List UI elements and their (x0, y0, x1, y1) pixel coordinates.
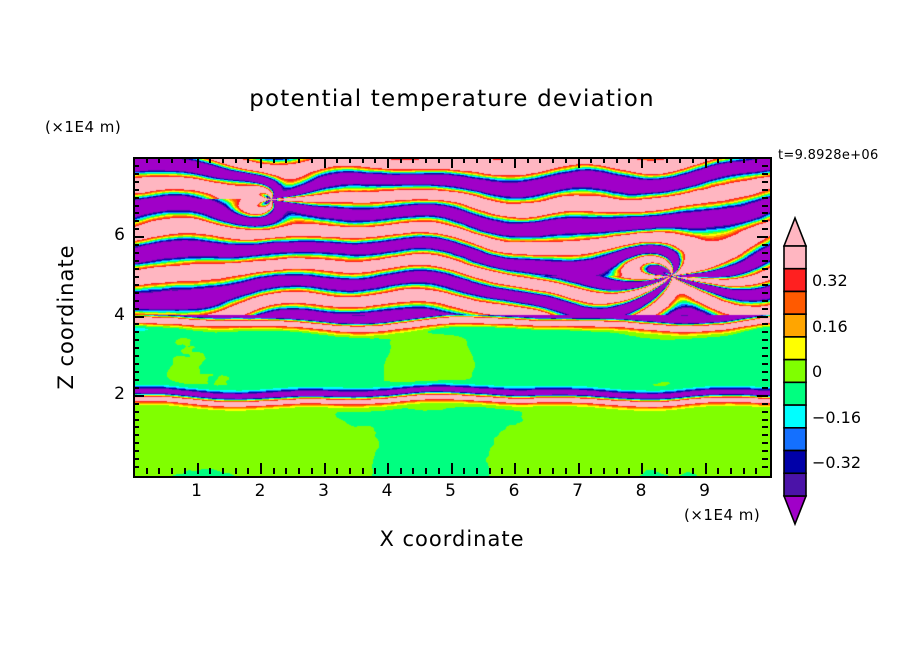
contour-field-canvas (135, 159, 770, 476)
page-title: potential temperature deviation (0, 86, 904, 112)
z-minor-tick (133, 355, 139, 357)
x-minor-tick-top (400, 157, 402, 163)
x-minor-tick-top (349, 157, 351, 163)
x-minor-tick (247, 468, 249, 474)
x-minor-tick (527, 468, 529, 474)
colorbar-segment (784, 314, 806, 337)
z-minor-tick (133, 434, 139, 436)
x-minor-tick-top (730, 157, 732, 163)
x-minor-tick (273, 468, 275, 474)
x-major-tick (387, 463, 389, 474)
z-minor-tick-right (762, 331, 768, 333)
x-minor-tick-top (336, 157, 338, 163)
x-minor-tick (285, 468, 287, 474)
z-minor-tick-right (762, 173, 768, 175)
z-minor-tick-right (762, 181, 768, 183)
x-minor-tick-top (285, 157, 287, 163)
x-minor-tick-top (666, 157, 668, 163)
x-minor-tick (654, 468, 656, 474)
colorbar-top-arrow (784, 218, 806, 246)
x-minor-tick-top (463, 157, 465, 163)
z-minor-tick-right (762, 205, 768, 207)
z-minor-tick (133, 426, 139, 428)
colorbar-tick-label: −0.32 (812, 453, 861, 472)
z-minor-tick (133, 284, 139, 286)
z-minor-tick (133, 252, 139, 254)
x-minor-tick-top (298, 157, 300, 163)
x-minor-tick (209, 468, 211, 474)
colorbar-segment (784, 337, 806, 360)
x-minor-tick-top (235, 157, 237, 163)
x-major-tick (641, 463, 643, 474)
z-minor-tick-right (762, 197, 768, 199)
z-minor-tick-right (762, 411, 768, 413)
z-minor-tick (133, 260, 139, 262)
colorbar-segment (784, 428, 806, 451)
z-minor-tick (133, 379, 139, 381)
x-tick-label: 5 (436, 481, 466, 501)
z-minor-tick-right (762, 355, 768, 357)
x-minor-tick (628, 468, 630, 474)
z-minor-tick-right (762, 308, 768, 310)
z-minor-tick (133, 205, 139, 207)
z-minor-tick (133, 268, 139, 270)
z-minor-tick (133, 458, 139, 460)
z-minor-tick (133, 228, 139, 230)
x-minor-tick (590, 468, 592, 474)
z-minor-tick-right (762, 252, 768, 254)
x-minor-tick-top (311, 157, 313, 163)
z-minor-tick-right (762, 189, 768, 191)
z-minor-tick-right (762, 419, 768, 421)
x-minor-tick (349, 468, 351, 474)
x-minor-tick-top (565, 157, 567, 163)
z-minor-tick-right (762, 403, 768, 405)
z-minor-tick (133, 387, 139, 389)
z-minor-tick-right (762, 268, 768, 270)
x-minor-tick (501, 468, 503, 474)
x-minor-tick-top (158, 157, 160, 163)
z-minor-tick-right (762, 292, 768, 294)
x-major-tick (451, 463, 453, 474)
colorbar-segment (784, 269, 806, 292)
x-minor-tick (743, 468, 745, 474)
x-major-tick-top (578, 157, 580, 168)
x-axis-unit-label: (×1E4 m) (684, 506, 760, 524)
x-minor-tick-top (222, 157, 224, 163)
z-minor-tick-right (762, 466, 768, 468)
colorbar-svg (781, 216, 809, 526)
colorbar-tick-label: −0.16 (812, 408, 861, 427)
x-minor-tick (222, 468, 224, 474)
z-minor-tick (133, 323, 139, 325)
x-minor-tick (717, 468, 719, 474)
contour-plot-area (133, 157, 772, 478)
x-minor-tick-top (654, 157, 656, 163)
x-minor-tick (146, 468, 148, 474)
z-minor-tick-right (762, 260, 768, 262)
colorbar-segment (784, 405, 806, 428)
x-minor-tick (298, 468, 300, 474)
z-minor-tick-right (762, 284, 768, 286)
z-minor-tick-right (762, 212, 768, 214)
x-minor-tick (362, 468, 364, 474)
z-minor-tick-right (762, 371, 768, 373)
z-minor-tick (133, 308, 139, 310)
x-minor-tick (666, 468, 668, 474)
colorbar-tick-label: 0 (812, 362, 822, 381)
z-tick-label: 2 (99, 384, 125, 404)
contour-plot-figure: potential temperature deviation (×1E4 m)… (0, 0, 904, 654)
x-major-tick-top (387, 157, 389, 168)
z-minor-tick (133, 339, 139, 341)
z-major-tick (133, 395, 144, 397)
x-tick-label: 8 (626, 481, 656, 501)
x-minor-tick-top (146, 157, 148, 163)
x-minor-tick-top (362, 157, 364, 163)
z-tick-label: 4 (99, 305, 125, 325)
x-minor-tick-top (539, 157, 541, 163)
z-minor-tick-right (762, 442, 768, 444)
colorbar-tick-label: 0.32 (812, 271, 848, 290)
z-minor-tick (133, 411, 139, 413)
x-minor-tick (235, 468, 237, 474)
z-major-tick-right (757, 316, 768, 318)
z-major-tick (133, 236, 144, 238)
x-minor-tick-top (743, 157, 745, 163)
x-minor-tick-top (209, 157, 211, 163)
x-minor-tick (171, 468, 173, 474)
x-major-tick (705, 463, 707, 474)
x-minor-tick-top (717, 157, 719, 163)
x-minor-tick-top (501, 157, 503, 163)
z-minor-tick-right (762, 220, 768, 222)
x-minor-tick-top (273, 157, 275, 163)
x-major-tick-top (197, 157, 199, 168)
z-minor-tick (133, 442, 139, 444)
z-minor-tick (133, 276, 139, 278)
x-minor-tick (336, 468, 338, 474)
z-minor-tick (133, 220, 139, 222)
x-axis-title: X coordinate (0, 527, 904, 551)
z-minor-tick-right (762, 450, 768, 452)
x-minor-tick (730, 468, 732, 474)
y-axis-title: Z coordinate (54, 217, 78, 417)
z-minor-tick (133, 189, 139, 191)
x-minor-tick-top (679, 157, 681, 163)
x-minor-tick (438, 468, 440, 474)
z-minor-tick-right (762, 244, 768, 246)
z-minor-tick-right (762, 165, 768, 167)
x-minor-tick (425, 468, 427, 474)
x-minor-tick (565, 468, 567, 474)
z-minor-tick-right (762, 323, 768, 325)
colorbar-segment (784, 473, 806, 496)
x-minor-tick (476, 468, 478, 474)
z-minor-tick-right (762, 434, 768, 436)
x-minor-tick-top (184, 157, 186, 163)
colorbar-bottom-arrow (784, 496, 806, 524)
x-tick-label: 1 (182, 481, 212, 501)
x-minor-tick-top (692, 157, 694, 163)
x-minor-tick-top (603, 157, 605, 163)
x-minor-tick-top (755, 157, 757, 163)
z-minor-tick (133, 466, 139, 468)
z-minor-tick-right (762, 347, 768, 349)
x-minor-tick-top (552, 157, 554, 163)
z-minor-tick (133, 292, 139, 294)
z-minor-tick (133, 331, 139, 333)
z-minor-tick (133, 212, 139, 214)
x-tick-label: 6 (499, 481, 529, 501)
z-major-tick-right (757, 236, 768, 238)
z-minor-tick-right (762, 228, 768, 230)
z-minor-tick (133, 347, 139, 349)
z-minor-tick (133, 181, 139, 183)
x-minor-tick (463, 468, 465, 474)
x-minor-tick (184, 468, 186, 474)
z-minor-tick (133, 450, 139, 452)
x-minor-tick (603, 468, 605, 474)
x-tick-label: 2 (245, 481, 275, 501)
x-major-tick (578, 463, 580, 474)
x-major-tick (197, 463, 199, 474)
x-minor-tick-top (527, 157, 529, 163)
x-major-tick-top (705, 157, 707, 168)
z-minor-tick (133, 403, 139, 405)
z-major-tick-right (757, 395, 768, 397)
x-major-tick-top (514, 157, 516, 168)
z-minor-tick (133, 300, 139, 302)
z-minor-tick (133, 419, 139, 421)
x-minor-tick-top (489, 157, 491, 163)
z-minor-tick-right (762, 379, 768, 381)
z-minor-tick-right (762, 276, 768, 278)
x-tick-label: 9 (690, 481, 720, 501)
z-minor-tick (133, 363, 139, 365)
z-tick-label: 6 (99, 225, 125, 245)
colorbar-segment (784, 246, 806, 269)
x-minor-tick-top (425, 157, 427, 163)
x-minor-tick (311, 468, 313, 474)
x-major-tick (324, 463, 326, 474)
x-major-tick-top (260, 157, 262, 168)
colorbar-segment (784, 291, 806, 314)
x-minor-tick (616, 468, 618, 474)
x-minor-tick-top (171, 157, 173, 163)
colorbar-segment (784, 451, 806, 474)
x-major-tick-top (641, 157, 643, 168)
x-tick-label: 7 (563, 481, 593, 501)
x-minor-tick (412, 468, 414, 474)
x-minor-tick-top (438, 157, 440, 163)
x-minor-tick-top (628, 157, 630, 163)
x-tick-label: 3 (309, 481, 339, 501)
z-minor-tick-right (762, 339, 768, 341)
x-minor-tick-top (412, 157, 414, 163)
z-minor-tick (133, 244, 139, 246)
x-minor-tick-top (590, 157, 592, 163)
x-minor-tick-top (616, 157, 618, 163)
z-minor-tick (133, 165, 139, 167)
colorbar (781, 216, 809, 526)
x-minor-tick-top (247, 157, 249, 163)
z-minor-tick-right (762, 363, 768, 365)
colorbar-segment (784, 382, 806, 405)
z-major-tick (133, 316, 144, 318)
z-minor-tick-right (762, 300, 768, 302)
x-major-tick (514, 463, 516, 474)
x-minor-tick (552, 468, 554, 474)
x-minor-tick (374, 468, 376, 474)
z-minor-tick (133, 197, 139, 199)
x-minor-tick-top (476, 157, 478, 163)
x-minor-tick (679, 468, 681, 474)
z-minor-tick (133, 173, 139, 175)
colorbar-tick-label: 0.16 (812, 317, 848, 336)
z-minor-tick-right (762, 387, 768, 389)
x-minor-tick (692, 468, 694, 474)
z-axis-unit-label: (×1E4 m) (45, 118, 121, 136)
z-minor-tick-right (762, 458, 768, 460)
time-annotation: t=9.8928e+06 (778, 148, 879, 163)
x-major-tick (260, 463, 262, 474)
x-minor-tick (158, 468, 160, 474)
x-minor-tick (400, 468, 402, 474)
x-minor-tick (539, 468, 541, 474)
z-minor-tick (133, 371, 139, 373)
x-major-tick-top (324, 157, 326, 168)
x-tick-label: 4 (372, 481, 402, 501)
x-minor-tick-top (374, 157, 376, 163)
x-minor-tick (489, 468, 491, 474)
x-major-tick-top (451, 157, 453, 168)
colorbar-segment (784, 360, 806, 383)
z-minor-tick-right (762, 426, 768, 428)
x-minor-tick (755, 468, 757, 474)
